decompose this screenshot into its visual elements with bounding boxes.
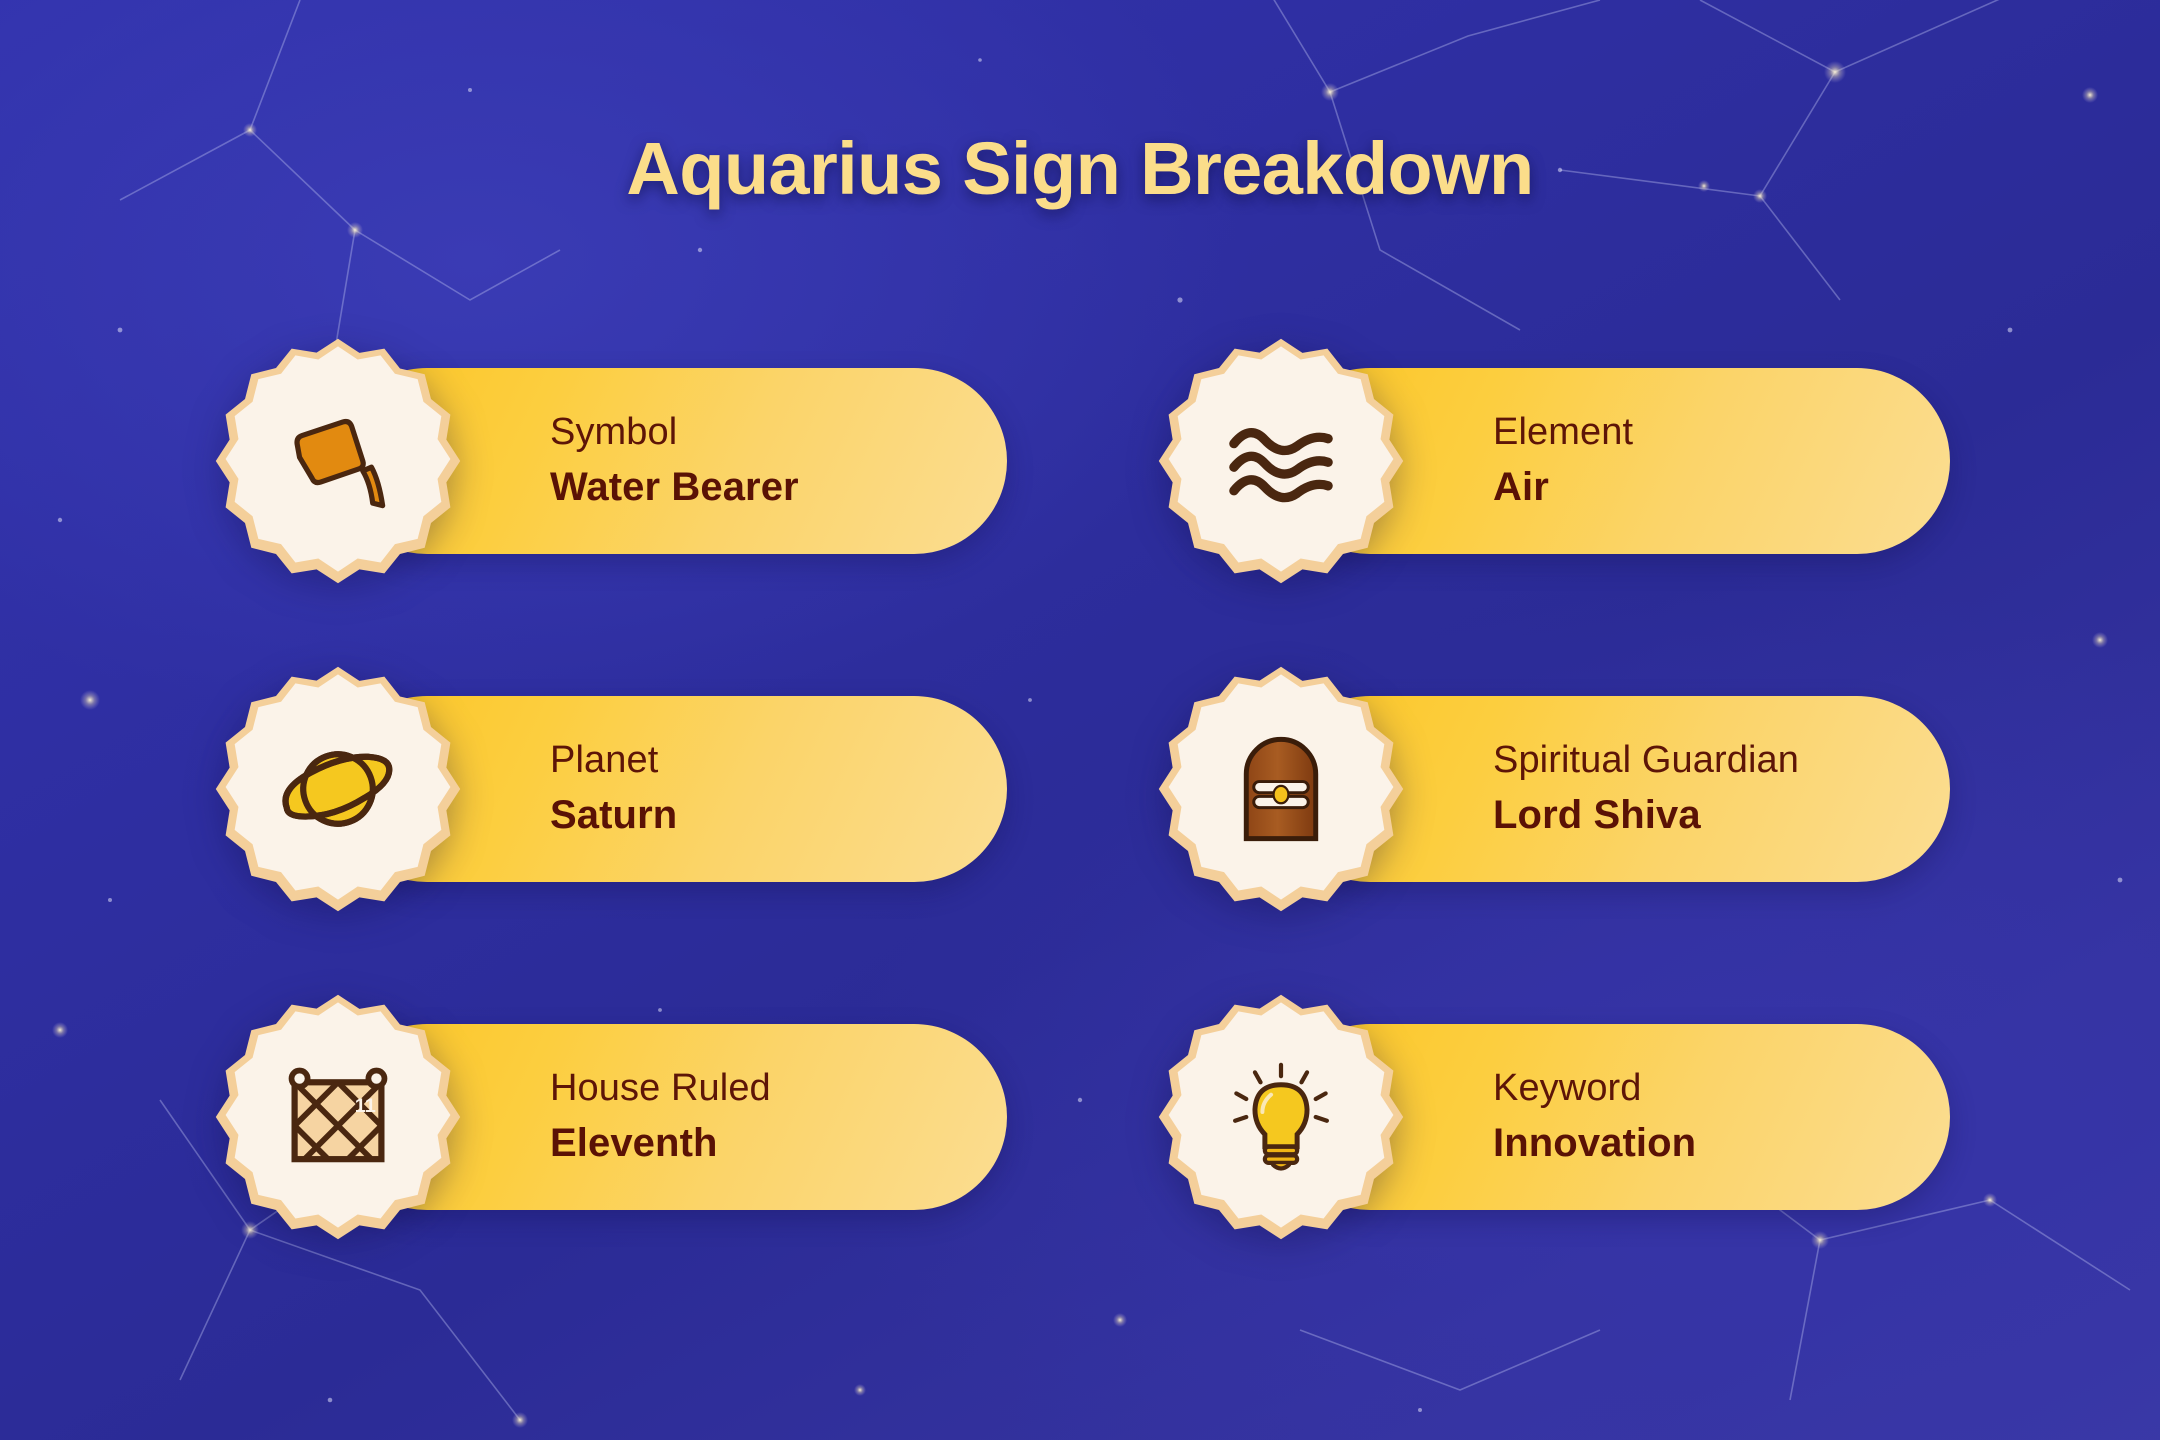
attribute-value: Eleventh	[550, 1119, 1007, 1169]
lightbulb-icon	[1219, 1055, 1343, 1179]
air-waves-icon	[1219, 399, 1343, 523]
attribute-value: Water Bearer	[550, 463, 1007, 513]
page-title: Aquarius Sign Breakdown	[0, 126, 2160, 211]
attribute-row-symbol[interactable]: Symbol Water Bearer	[212, 330, 1007, 592]
attribute-row-spiritual-guardian[interactable]: Spiritual Guardian Lord Shiva	[1155, 658, 1950, 920]
shiva-lingam-badge	[1155, 663, 1407, 915]
attribute-value: Lord Shiva	[1493, 791, 1950, 841]
house-number-label: 11	[355, 1095, 376, 1117]
attribute-row-house-ruled[interactable]: House Ruled Eleventh	[212, 986, 1007, 1248]
attributes-grid: Symbol Water Bearer Element Air	[0, 330, 2160, 1248]
attribute-label: Symbol	[550, 410, 1007, 455]
house-grid-badge: 11	[212, 991, 464, 1243]
attribute-label: Planet	[550, 738, 1007, 783]
shiva-lingam-icon	[1219, 727, 1343, 851]
attribute-row-planet[interactable]: Planet Saturn	[212, 658, 1007, 920]
attribute-value: Air	[1493, 463, 1950, 513]
attribute-value: Innovation	[1493, 1119, 1950, 1169]
attribute-label: Element	[1493, 410, 1950, 455]
attribute-value: Saturn	[550, 791, 1007, 841]
attribute-row-keyword[interactable]: Keyword Innovation	[1155, 986, 1950, 1248]
saturn-planet-icon	[276, 727, 400, 851]
attribute-label: Keyword	[1493, 1066, 1950, 1111]
lightbulb-badge	[1155, 991, 1407, 1243]
saturn-planet-badge	[212, 663, 464, 915]
house-grid-icon: 11	[276, 1055, 400, 1179]
water-bearer-urn-badge	[212, 335, 464, 587]
air-waves-badge	[1155, 335, 1407, 587]
attribute-label: House Ruled	[550, 1066, 1007, 1111]
water-bearer-urn-icon	[276, 399, 400, 523]
attribute-label: Spiritual Guardian	[1493, 738, 1950, 783]
attribute-row-element[interactable]: Element Air	[1155, 330, 1950, 592]
